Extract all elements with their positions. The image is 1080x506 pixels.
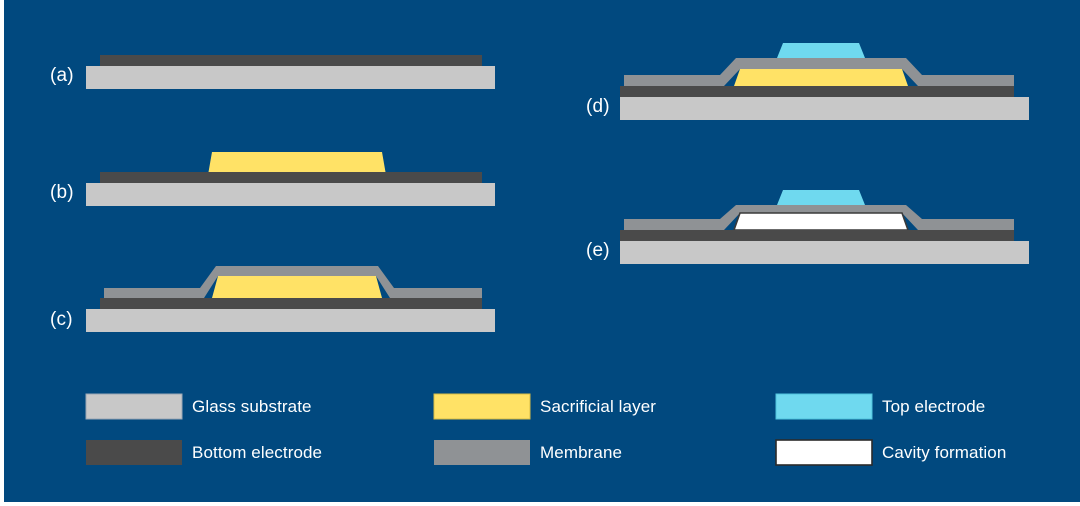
- legend-item-membrane: Membrane: [434, 440, 622, 465]
- legend-item-top-electrode: Top electrode: [776, 394, 985, 419]
- panel-b-glass-substrate: [86, 183, 495, 206]
- panel-c-label: (c): [50, 309, 73, 330]
- panel-b-bottom-electrode: [100, 172, 482, 183]
- legend-label-cavity-formation: Cavity formation: [882, 443, 1006, 462]
- panel-a: (a): [50, 55, 495, 89]
- panel-d-label: (d): [586, 96, 610, 117]
- legend-label-bottom-electrode: Bottom electrode: [192, 443, 322, 462]
- panel-c-sacrificial-layer: [212, 276, 382, 298]
- panel-e-bottom-electrode: [620, 230, 1014, 241]
- panel-e-label: (e): [586, 240, 610, 261]
- legend-label-sacrificial-layer: Sacrificial layer: [540, 397, 656, 416]
- legend-item-sacrificial-layer: Sacrificial layer: [434, 394, 656, 419]
- panel-a-label: (a): [50, 65, 74, 86]
- legend-label-top-electrode: Top electrode: [882, 397, 985, 416]
- legend-swatch-cavity-formation: [776, 440, 872, 465]
- panel-d-glass-substrate: [620, 97, 1029, 120]
- legend-swatch-membrane: [434, 440, 530, 465]
- panel-c-bottom-electrode: [100, 298, 482, 309]
- legend-item-bottom-electrode: Bottom electrode: [86, 440, 322, 465]
- panel-a-bottom-electrode: [100, 55, 482, 66]
- panel-b-sacrificial-layer: [208, 152, 386, 175]
- panel-d-top-electrode: [777, 43, 865, 58]
- panel-b: (b): [50, 152, 495, 206]
- legend: Glass substrate Bottom electrode Sacrifi…: [86, 394, 1006, 465]
- panel-e: (e): [586, 190, 1029, 264]
- panel-d: (d): [586, 43, 1029, 120]
- panel-d-bottom-electrode: [620, 86, 1014, 97]
- panel-e-top-electrode: [777, 190, 865, 205]
- panel-e-cavity-formation: [734, 213, 908, 230]
- legend-item-cavity-formation: Cavity formation: [776, 440, 1006, 465]
- legend-label-membrane: Membrane: [540, 443, 622, 462]
- panel-c-glass-substrate: [86, 309, 495, 332]
- panel-d-sacrificial-layer: [734, 69, 908, 86]
- legend-swatch-sacrificial-layer: [434, 394, 530, 419]
- panel-c: (c): [50, 266, 495, 332]
- figure-canvas: (a) (b) (c): [4, 0, 1080, 502]
- process-flow-diagram: (a) (b) (c): [4, 0, 1080, 502]
- legend-label-glass-substrate: Glass substrate: [192, 397, 312, 416]
- legend-swatch-glass-substrate: [86, 394, 182, 419]
- legend-swatch-bottom-electrode: [86, 440, 182, 465]
- panel-b-label: (b): [50, 182, 74, 203]
- panel-e-glass-substrate: [620, 241, 1029, 264]
- legend-item-glass-substrate: Glass substrate: [86, 394, 312, 419]
- panel-a-glass-substrate: [86, 66, 495, 89]
- legend-swatch-top-electrode: [776, 394, 872, 419]
